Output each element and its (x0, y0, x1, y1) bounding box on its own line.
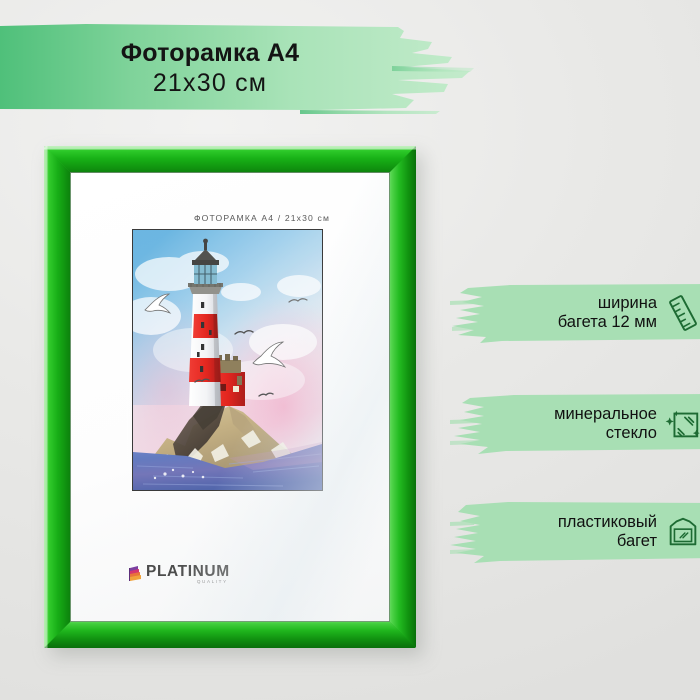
moulding-left-face (44, 146, 72, 648)
moulding-top-face (44, 146, 416, 174)
page-title: Фоторамка A4 21x30 см (0, 22, 420, 114)
lighthouse-illustration (133, 230, 322, 490)
frame-mat: ФОТОРАМКА А4 / 21x30 см (71, 173, 389, 621)
feature-label-moulding: пластиковый багет (558, 513, 657, 551)
brand-logo: PLATINUM QUALITY (129, 564, 230, 585)
glass-pane-icon (664, 405, 700, 443)
brand-tagline: QUALITY (197, 580, 228, 585)
feature-badge-width: ширина багета 12 мм (450, 281, 700, 345)
ruler-icon (664, 294, 700, 332)
product-card: Фоторамка A4 21x30 см ФОТОРАМКА А4 / 21x… (0, 0, 700, 700)
title-banner: Фоторамка A4 21x30 см (0, 22, 480, 114)
artwork-lighthouse (132, 229, 323, 491)
title-line-1: Фоторамка A4 (121, 39, 300, 67)
photo-frame: ФОТОРАМКА А4 / 21x30 см (44, 146, 416, 648)
feature-label-width: ширина багета 12 мм (558, 294, 657, 332)
feature-badge-glass: минеральное стекло (450, 392, 700, 456)
moulding-bottom-face (44, 620, 416, 648)
feature-badge-moulding: пластиковый багет (450, 500, 700, 564)
platinum-logo-mark (129, 566, 143, 582)
mat-size-label-text: ФОТОРАМКА А4 / 21x30 см (130, 213, 330, 223)
brand-logo-text: PLATINUM QUALITY (146, 564, 230, 585)
title-line-2: 21x30 см (153, 69, 267, 97)
picture-frame-icon (664, 513, 700, 551)
brand-name: PLATINUM (146, 564, 230, 580)
moulding-right-face (388, 146, 416, 648)
mat-size-label: ФОТОРАМКА А4 / 21x30 см (71, 213, 389, 223)
frame-moulding: ФОТОРАМКА А4 / 21x30 см (44, 146, 416, 648)
feature-label-glass: минеральное стекло (554, 405, 657, 443)
